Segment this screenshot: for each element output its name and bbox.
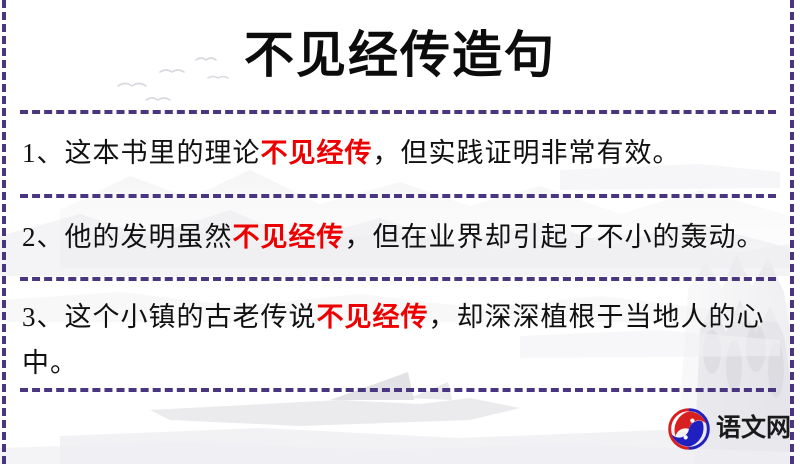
separator-line-3 [20, 277, 776, 281]
separator-line-1 [20, 110, 776, 114]
sentence-after-1: ，但实践证明非常有效。 [373, 138, 681, 168]
sentence-before-1: 这本书里的理论 [65, 138, 261, 168]
sentence-row-1: 1、这本书里的理论不见经传，但实践证明非常有效。 [22, 130, 778, 176]
separator-line-2 [20, 194, 776, 198]
sentence-index-2: 2、 [22, 222, 65, 252]
keyword-2: 不见经传 [233, 222, 345, 252]
frame-border-right [790, 0, 794, 464]
sentence-after-2: ，但在业界却引起了不小的轰动。 [345, 222, 765, 252]
sentence-row-3: 3、这个小镇的古老传说不见经传，却深深植根于当地人的心中。 [22, 294, 778, 386]
yin-yang-fish-logo-icon [668, 408, 710, 450]
keyword-3: 不见经传 [317, 302, 429, 332]
sentence-index-1: 1、 [22, 138, 65, 168]
separator-line-4 [20, 388, 776, 392]
slide-page: 不见经传造句 1、这本书里的理论不见经传，但实践证明非常有效。 2、他的发明虽然… [0, 0, 800, 464]
logo-text: 语文网 [716, 408, 791, 450]
frame-border-left [2, 0, 6, 464]
sentence-row-2: 2、他的发明虽然不见经传，但在业界却引起了不小的轰动。 [22, 214, 778, 260]
sentence-before-3: 这个小镇的古老传说 [65, 302, 317, 332]
page-title: 不见经传造句 [0, 24, 800, 86]
keyword-1: 不见经传 [261, 138, 373, 168]
sentence-before-2: 他的发明虽然 [65, 222, 233, 252]
site-logo[interactable]: 语文网 [668, 408, 791, 450]
sentence-index-3: 3、 [22, 302, 65, 332]
